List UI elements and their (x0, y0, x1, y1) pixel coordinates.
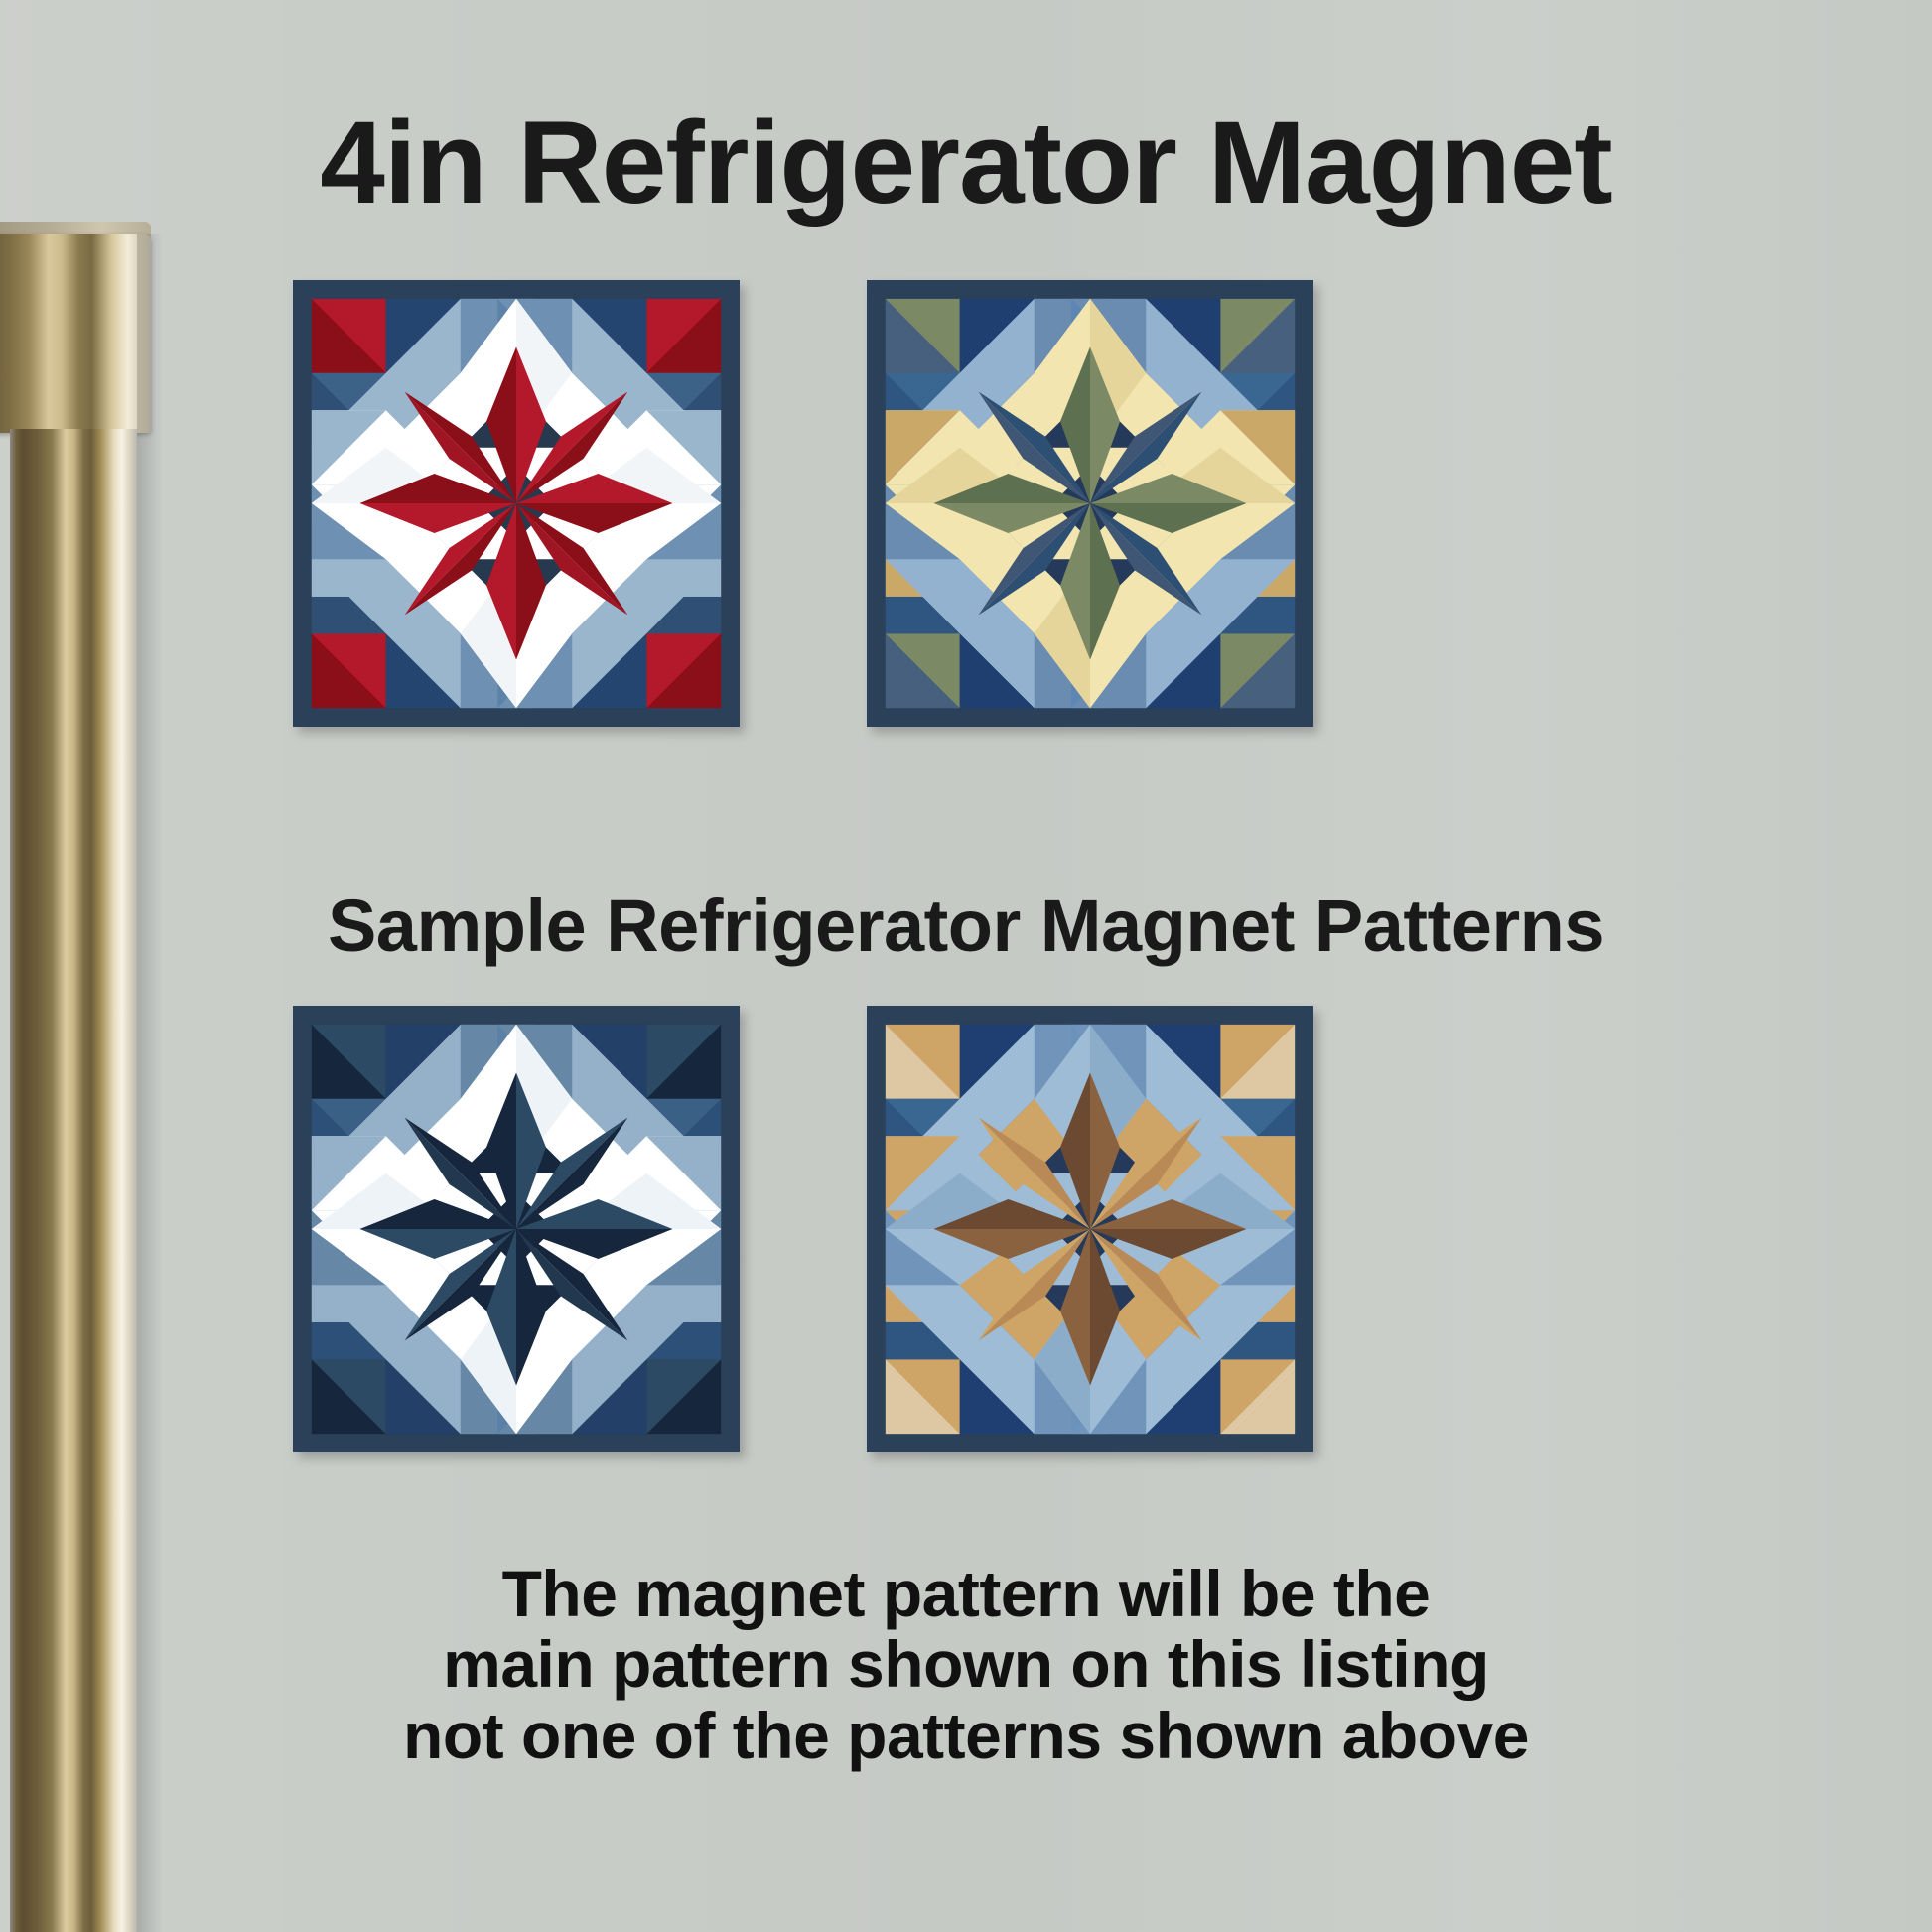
sample-patterns-caption: Sample Refrigerator Magnet Patterns (0, 884, 1932, 968)
footer-disclaimer: The magnet pattern will be the main patt… (0, 1559, 1932, 1771)
page-title: 4in Refrigerator Magnet (0, 95, 1932, 230)
footer-line-3: not one of the patterns shown above (0, 1701, 1932, 1771)
footer-line-2: main pattern shown on this listing (0, 1629, 1932, 1700)
quilt-block-top-right (867, 280, 1313, 727)
quilt-block-bottom-right (867, 1006, 1313, 1452)
quilt-block-bottom-left (293, 1006, 740, 1452)
footer-line-1: The magnet pattern will be the (0, 1559, 1932, 1629)
quilt-block-top-left (293, 280, 740, 727)
handle-cap (0, 234, 151, 433)
